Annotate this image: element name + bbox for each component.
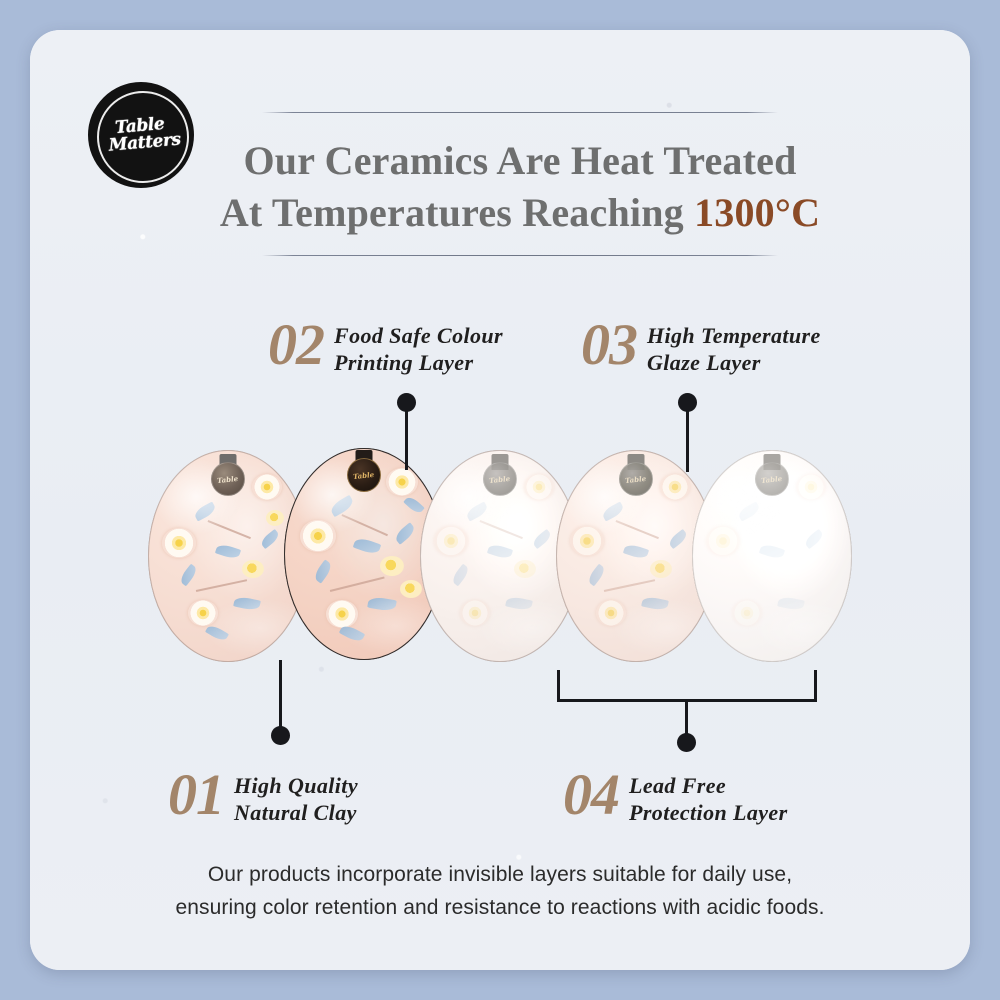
leader-stem-01 <box>279 660 282 730</box>
layer-name-03-line1: High Temperature <box>647 322 821 349</box>
layer-name-02-line1: Food Safe Colour <box>334 322 503 349</box>
layer-label-02: 02 Food Safe Colour Printing Layer <box>268 318 503 376</box>
table-matters-logo: Table Matters <box>88 82 194 188</box>
layer-name-01: High Quality Natural Clay <box>234 768 358 826</box>
layer-number-01: 01 <box>168 768 224 822</box>
headline-line-2-text: At Temperatures Reaching <box>220 190 694 235</box>
badge-text: Table <box>353 470 375 479</box>
layer-label-01: 01 High Quality Natural Clay <box>168 768 358 826</box>
layer-name-04-line1: Lead Free <box>629 772 788 799</box>
infographic-frame: Table Matters Our Ceramics Are Heat Trea… <box>0 0 1000 1000</box>
leader-stem-02 <box>405 406 408 470</box>
layer-name-04-line2: Protection Layer <box>629 799 788 826</box>
layer-label-04: 04 Lead Free Protection Layer <box>563 768 788 826</box>
badge-coin: Table <box>211 462 245 496</box>
plate-layer-05: Table <box>692 450 852 662</box>
headline-rule-top <box>262 112 778 113</box>
badge-coin: Table <box>755 462 789 496</box>
headline-line-1: Our Ceramics Are Heat Treated <box>180 135 860 187</box>
logo-wordmark: Table Matters <box>100 115 182 156</box>
headline-rule-bottom <box>262 255 778 256</box>
footer-caption: Our products incorporate invisible layer… <box>100 858 900 924</box>
layer-label-03: 03 High Temperature Glaze Layer <box>581 318 821 376</box>
headline-line-2: At Temperatures Reaching 1300°C <box>180 187 860 239</box>
headline-temperature: 1300°C <box>694 190 820 235</box>
leader-bracket-left-arm <box>557 670 560 702</box>
layer-name-01-line2: Natural Clay <box>234 799 358 826</box>
leader-dot-04 <box>677 733 696 752</box>
layer-number-04: 04 <box>563 768 619 822</box>
layer-name-04: Lead Free Protection Layer <box>629 768 788 826</box>
infographic-card: Table Matters Our Ceramics Are Heat Trea… <box>30 30 970 970</box>
badge-text: Table <box>217 474 239 483</box>
caption-line-1: Our products incorporate invisible layer… <box>100 858 900 891</box>
badge-coin: Table <box>483 462 517 496</box>
caption-line-2: ensuring color retention and resistance … <box>100 891 900 924</box>
badge-text: Table <box>489 474 511 483</box>
layer-name-02: Food Safe Colour Printing Layer <box>334 318 503 376</box>
badge-text: Table <box>761 474 783 483</box>
layer-name-01-line1: High Quality <box>234 772 358 799</box>
badge-coin: Table <box>347 458 381 492</box>
layer-name-03-line2: Glaze Layer <box>647 349 821 376</box>
leader-dot-03 <box>678 393 697 412</box>
leader-dot-02 <box>397 393 416 412</box>
leader-dot-01 <box>271 726 290 745</box>
layer-name-02-line2: Printing Layer <box>334 349 503 376</box>
leader-bracket-right-arm <box>814 670 817 702</box>
layer-name-03: High Temperature Glaze Layer <box>647 318 821 376</box>
leader-stem-03 <box>686 406 689 472</box>
layer-number-02: 02 <box>268 318 324 372</box>
badge-coin: Table <box>619 462 653 496</box>
badge-text: Table <box>625 474 647 483</box>
layer-number-03: 03 <box>581 318 637 372</box>
headline-block: Our Ceramics Are Heat Treated At Tempera… <box>180 112 860 256</box>
